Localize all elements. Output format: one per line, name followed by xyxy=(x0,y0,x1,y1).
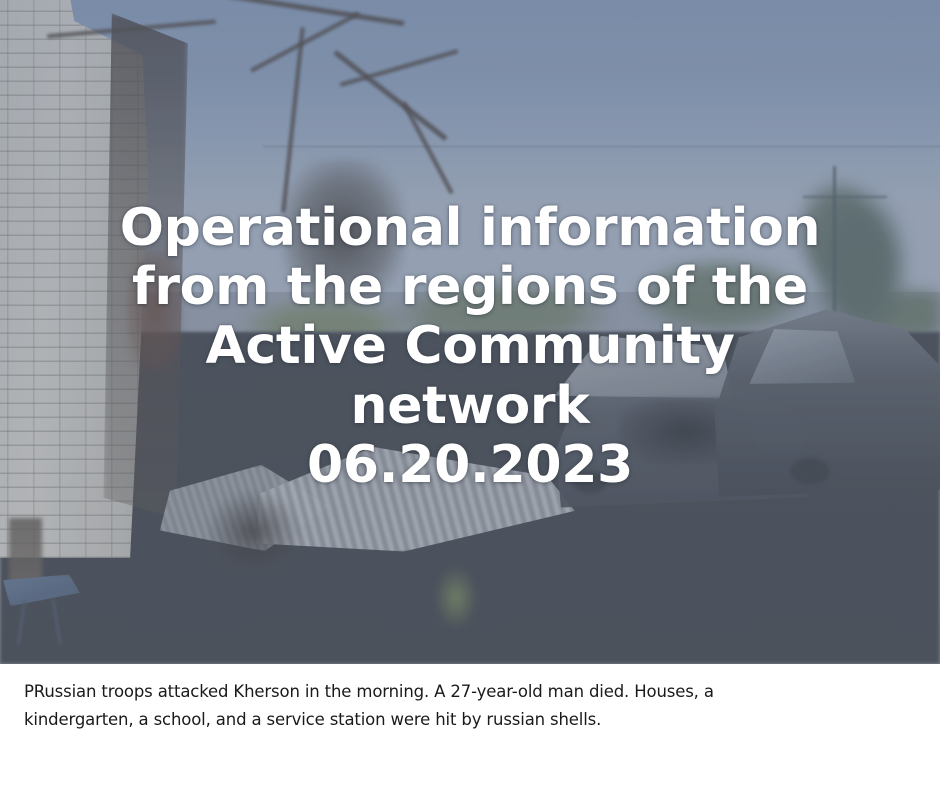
poster: Operational information from the regions… xyxy=(0,0,940,788)
poster-title: Operational information from the regions… xyxy=(110,199,830,495)
caption-text: PRussian troops attacked Kherson in the … xyxy=(0,664,740,733)
caption-bar: PRussian troops attacked Kherson in the … xyxy=(0,664,940,788)
title-block: Operational information from the regions… xyxy=(0,0,940,664)
